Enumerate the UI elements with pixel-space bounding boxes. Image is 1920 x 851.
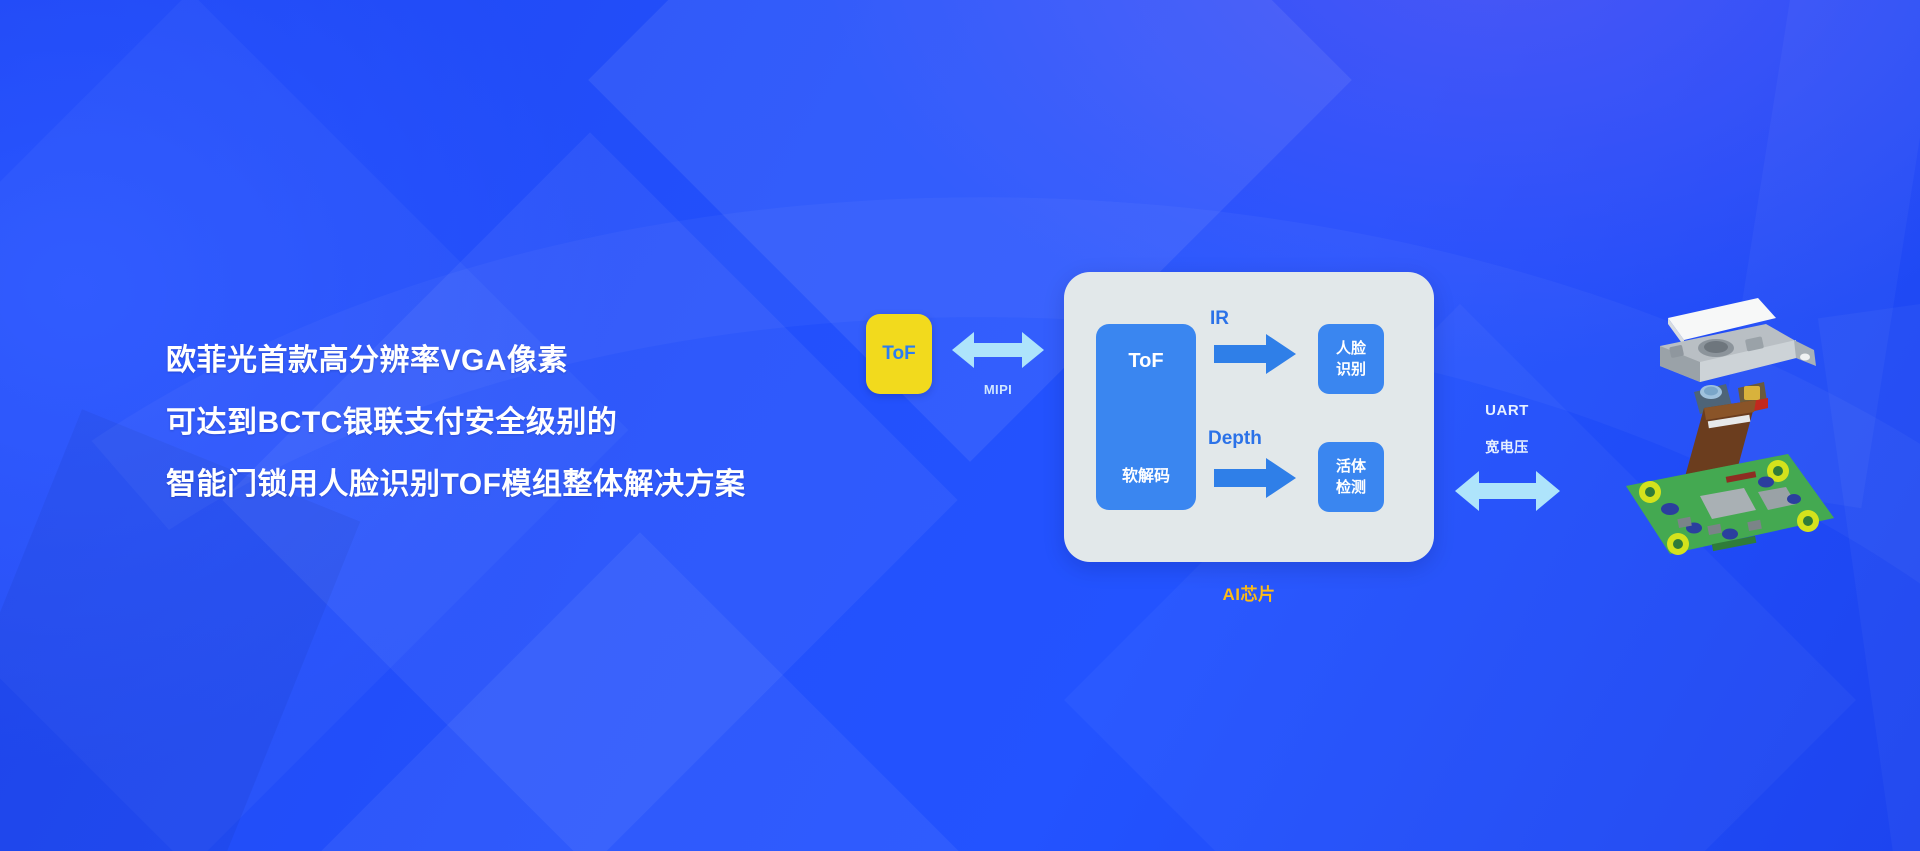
liveness-detection-label-line1: 活体 <box>1336 456 1366 477</box>
mipi-link-label: MIPI <box>952 382 1044 397</box>
tof-decoder-subtitle: 软解码 <box>1122 462 1170 486</box>
arrow-right-icon <box>1214 458 1296 498</box>
headline-line-2: 可达到BCTC银联支付安全级别的 <box>166 392 745 454</box>
face-recognition-label-line2: 识别 <box>1336 359 1366 380</box>
wide-voltage-label: 宽电压 <box>1452 437 1562 457</box>
uart-link-label: UART <box>1452 402 1562 419</box>
double-arrow-icon <box>1455 467 1560 515</box>
tof-sensor-label: ToF <box>882 343 915 365</box>
double-arrow-icon <box>952 327 1044 373</box>
headline-line-3: 智能门锁用人脸识别TOF模组整体解决方案 <box>166 454 745 516</box>
depth-flow-label: Depth <box>1208 428 1262 450</box>
headline-line-1: 欧菲光首款高分辨率VGA像素 <box>166 330 745 392</box>
tof-decoder-title: ToF <box>1128 350 1163 373</box>
ir-flow-label: IR <box>1210 308 1229 330</box>
banner-stage: 欧菲光首款高分辨率VGA像素 可达到BCTC银联支付安全级别的 智能门锁用人脸识… <box>0 0 1920 851</box>
arrow-right-icon <box>1214 334 1296 374</box>
face-recognition-block: 人脸 识别 <box>1318 324 1384 394</box>
ai-chip-caption: AI芯片 <box>1064 580 1434 605</box>
tof-sensor-block: ToF <box>866 314 932 394</box>
liveness-detection-block: 活体 检测 <box>1318 442 1384 512</box>
liveness-detection-label-line2: 检测 <box>1336 477 1366 498</box>
hardware-module-illustration <box>1608 296 1908 566</box>
face-recognition-label-line1: 人脸 <box>1336 338 1366 359</box>
page-title: 欧菲光首款高分辨率VGA像素 可达到BCTC银联支付安全级别的 智能门锁用人脸识… <box>166 330 745 516</box>
tof-camera-bracket <box>1660 298 1816 382</box>
tof-decoder-block: ToF 软解码 <box>1096 324 1196 510</box>
pcb-board <box>1626 454 1834 555</box>
